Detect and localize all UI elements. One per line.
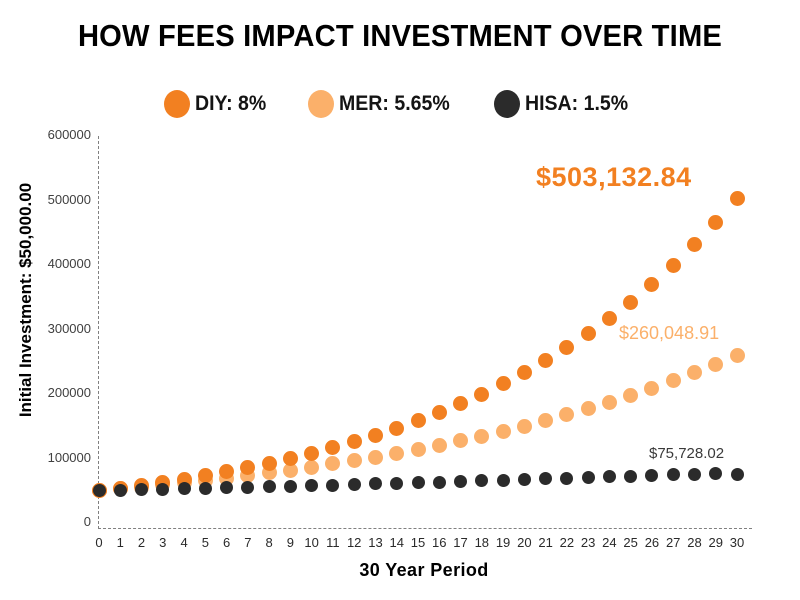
data-point (93, 484, 106, 497)
chart-legend: DIY: 8%MER: 5.65%HISA: 1.5% (0, 90, 800, 118)
data-point (134, 478, 149, 493)
data-point (517, 365, 532, 380)
page-title: HOW FEES IMPACT INVESTMENT OVER TIME (24, 18, 776, 54)
data-point (198, 468, 213, 483)
data-point (602, 395, 617, 410)
data-point (304, 446, 319, 461)
x-tick-label: 5 (191, 535, 219, 550)
legend-item-mer[interactable]: MER: 5.65% (308, 90, 458, 118)
data-point (240, 468, 255, 483)
data-point (474, 387, 489, 402)
x-tick-label: 0 (85, 535, 113, 550)
chart-page: HOW FEES IMPACT INVESTMENT OVER TIME DIY… (0, 0, 800, 600)
data-point (155, 477, 170, 492)
data-point (368, 428, 383, 443)
x-tick-label: 28 (680, 535, 708, 550)
data-point (496, 424, 511, 439)
x-tick-label: 14 (383, 535, 411, 550)
x-tick-label: 11 (319, 535, 347, 550)
x-tick-label: 17 (447, 535, 475, 550)
x-tick-label: 9 (276, 535, 304, 550)
data-point (731, 468, 744, 481)
data-point (517, 419, 532, 434)
x-tick-label: 18 (468, 535, 496, 550)
data-point (347, 434, 362, 449)
x-tick-label: 19 (489, 535, 517, 550)
data-point (283, 451, 298, 466)
data-point (709, 467, 722, 480)
x-tick-label: 25 (617, 535, 645, 550)
x-tick-label: 2 (128, 535, 156, 550)
data-point (538, 353, 553, 368)
data-point (497, 474, 510, 487)
data-point (177, 472, 192, 487)
x-tick-label: 22 (553, 535, 581, 550)
data-point (325, 456, 340, 471)
data-point (708, 357, 723, 372)
data-point (389, 421, 404, 436)
y-axis-line (98, 136, 99, 529)
x-tick-label: 30 (723, 535, 751, 550)
data-point (92, 483, 107, 498)
data-point (602, 311, 617, 326)
data-point (582, 471, 595, 484)
data-point (348, 478, 361, 491)
data-point (623, 388, 638, 403)
legend-item-label: HISA: 1.5% (525, 92, 628, 116)
data-point (475, 474, 488, 487)
data-point (730, 191, 745, 206)
legend-swatch-icon (308, 90, 334, 118)
data-point (644, 381, 659, 396)
y-tick-label: 0 (3, 514, 91, 529)
x-tick-label: 29 (702, 535, 730, 550)
data-point (453, 396, 468, 411)
data-point (240, 460, 255, 475)
data-point (219, 471, 234, 486)
x-tick-label: 8 (255, 535, 283, 550)
legend-item-label: MER: 5.65% (339, 92, 450, 116)
data-point (688, 468, 701, 481)
data-point (390, 477, 403, 490)
x-tick-label: 20 (510, 535, 538, 550)
data-point (368, 450, 383, 465)
data-point (559, 340, 574, 355)
data-point (241, 481, 254, 494)
data-point (325, 440, 340, 455)
x-axis-line (98, 528, 752, 529)
data-point (538, 413, 553, 428)
data-point (644, 277, 659, 292)
legend-item-label: DIY: 8% (195, 92, 266, 116)
x-tick-label: 13 (361, 535, 389, 550)
data-point (624, 470, 637, 483)
data-point (262, 456, 277, 471)
data-point (666, 258, 681, 273)
data-point (92, 483, 107, 498)
data-point (199, 482, 212, 495)
data-point (263, 480, 276, 493)
data-point (389, 446, 404, 461)
x-tick-label: 10 (298, 535, 326, 550)
annotation-diy: $503,132.84 (536, 162, 692, 193)
data-point (687, 365, 702, 380)
legend-swatch-icon (164, 90, 190, 118)
x-tick-label: 16 (425, 535, 453, 550)
x-tick-label: 3 (149, 535, 177, 550)
data-point (687, 237, 702, 252)
annotation-hisa: $75,728.02 (649, 445, 724, 462)
data-point (113, 481, 128, 496)
legend-swatch-icon (494, 90, 520, 118)
data-point (667, 468, 680, 481)
data-point (411, 442, 426, 457)
data-point (284, 480, 297, 493)
data-point (113, 481, 128, 496)
data-point (220, 481, 233, 494)
data-point (454, 475, 467, 488)
x-tick-label: 6 (213, 535, 241, 550)
data-point (326, 479, 339, 492)
data-point (623, 295, 638, 310)
data-point (645, 469, 658, 482)
data-point (305, 479, 318, 492)
x-tick-label: 26 (638, 535, 666, 550)
x-tick-label: 7 (234, 535, 262, 550)
x-tick-label: 23 (574, 535, 602, 550)
data-point (304, 460, 319, 475)
x-tick-label: 21 (532, 535, 560, 550)
data-point (730, 348, 745, 363)
data-point (198, 473, 213, 488)
x-tick-label: 12 (340, 535, 368, 550)
x-axis-title: 30 Year Period (96, 560, 752, 581)
data-point (559, 407, 574, 422)
data-point (433, 476, 446, 489)
data-point (114, 484, 127, 497)
annotation-mer: $260,048.91 (619, 323, 719, 344)
data-point (603, 470, 616, 483)
data-point (155, 475, 170, 490)
data-point (666, 373, 681, 388)
data-point (581, 326, 596, 341)
data-point (432, 438, 447, 453)
data-point (219, 464, 234, 479)
data-point (135, 483, 148, 496)
data-point (177, 475, 192, 490)
y-axis-title: Initial Investment: $50,000.00 (16, 100, 46, 500)
data-point (539, 472, 552, 485)
data-point (347, 453, 362, 468)
data-point (474, 429, 489, 444)
x-tick-label: 24 (595, 535, 623, 550)
data-point (178, 482, 191, 495)
data-point (412, 476, 425, 489)
data-point (581, 401, 596, 416)
data-point (708, 215, 723, 230)
data-point (283, 463, 298, 478)
data-point (411, 413, 426, 428)
x-tick-label: 15 (404, 535, 432, 550)
data-point (518, 473, 531, 486)
x-tick-label: 4 (170, 535, 198, 550)
x-tick-label: 1 (106, 535, 134, 550)
data-point (432, 405, 447, 420)
data-point (134, 480, 149, 495)
legend-item-diy[interactable]: DIY: 8% (164, 90, 272, 118)
data-point (369, 477, 382, 490)
data-point (453, 433, 468, 448)
data-point (496, 376, 511, 391)
data-point (156, 483, 169, 496)
data-point (560, 472, 573, 485)
legend-item-hisa[interactable]: HISA: 1.5% (494, 90, 636, 118)
data-point (262, 465, 277, 480)
x-tick-label: 27 (659, 535, 687, 550)
